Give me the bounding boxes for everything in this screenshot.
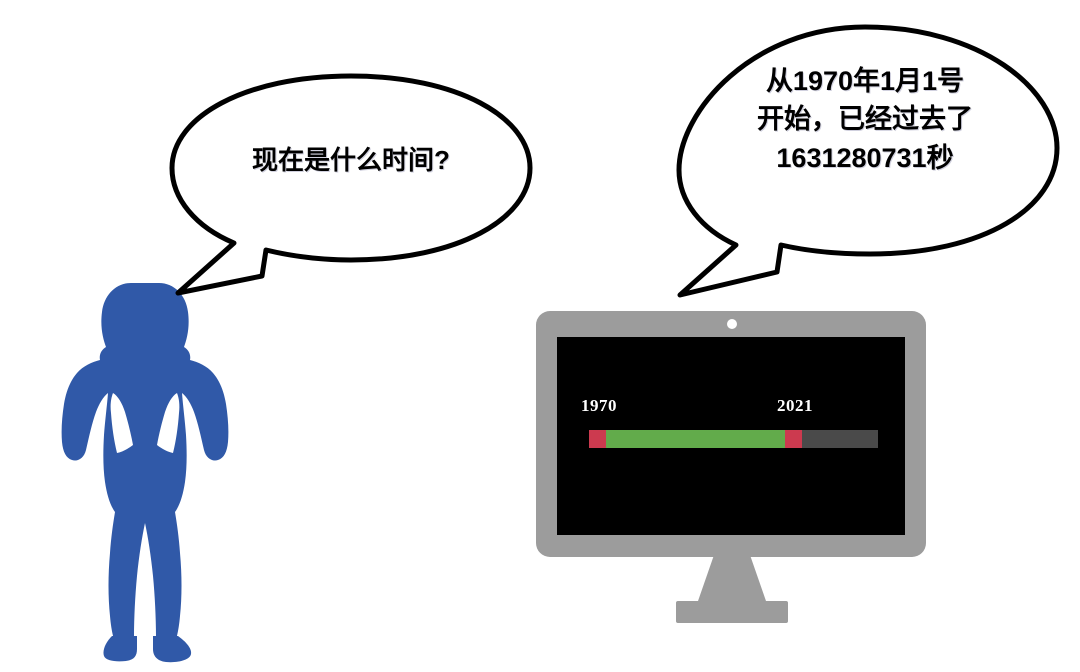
timeline-segment-now-marker bbox=[785, 430, 802, 448]
timeline-label-start: 1970 bbox=[581, 396, 617, 416]
speech-bubble-right-text: 从1970年1月1号 开始，已经过去了 1631280731秒 bbox=[712, 62, 1018, 177]
monitor-base bbox=[676, 601, 788, 623]
scene-canvas: 现在是什么时间? 从1970年1月1号 开始，已经过去了 1631280731秒… bbox=[0, 0, 1080, 672]
timeline-segment-elapsed-span bbox=[606, 430, 785, 448]
monitor-stand bbox=[698, 555, 766, 601]
speech-bubble-left-text: 现在是什么时间? bbox=[196, 144, 506, 178]
speech-bubble-left bbox=[172, 76, 530, 293]
woman-silhouette bbox=[62, 283, 229, 662]
timeline-label-end: 2021 bbox=[777, 396, 813, 416]
computer-monitor bbox=[536, 311, 926, 623]
timeline-segment-start-marker bbox=[589, 430, 606, 448]
timeline-chart bbox=[589, 430, 878, 448]
webcam-icon bbox=[727, 319, 737, 329]
timeline-segment-future-span bbox=[802, 430, 878, 448]
